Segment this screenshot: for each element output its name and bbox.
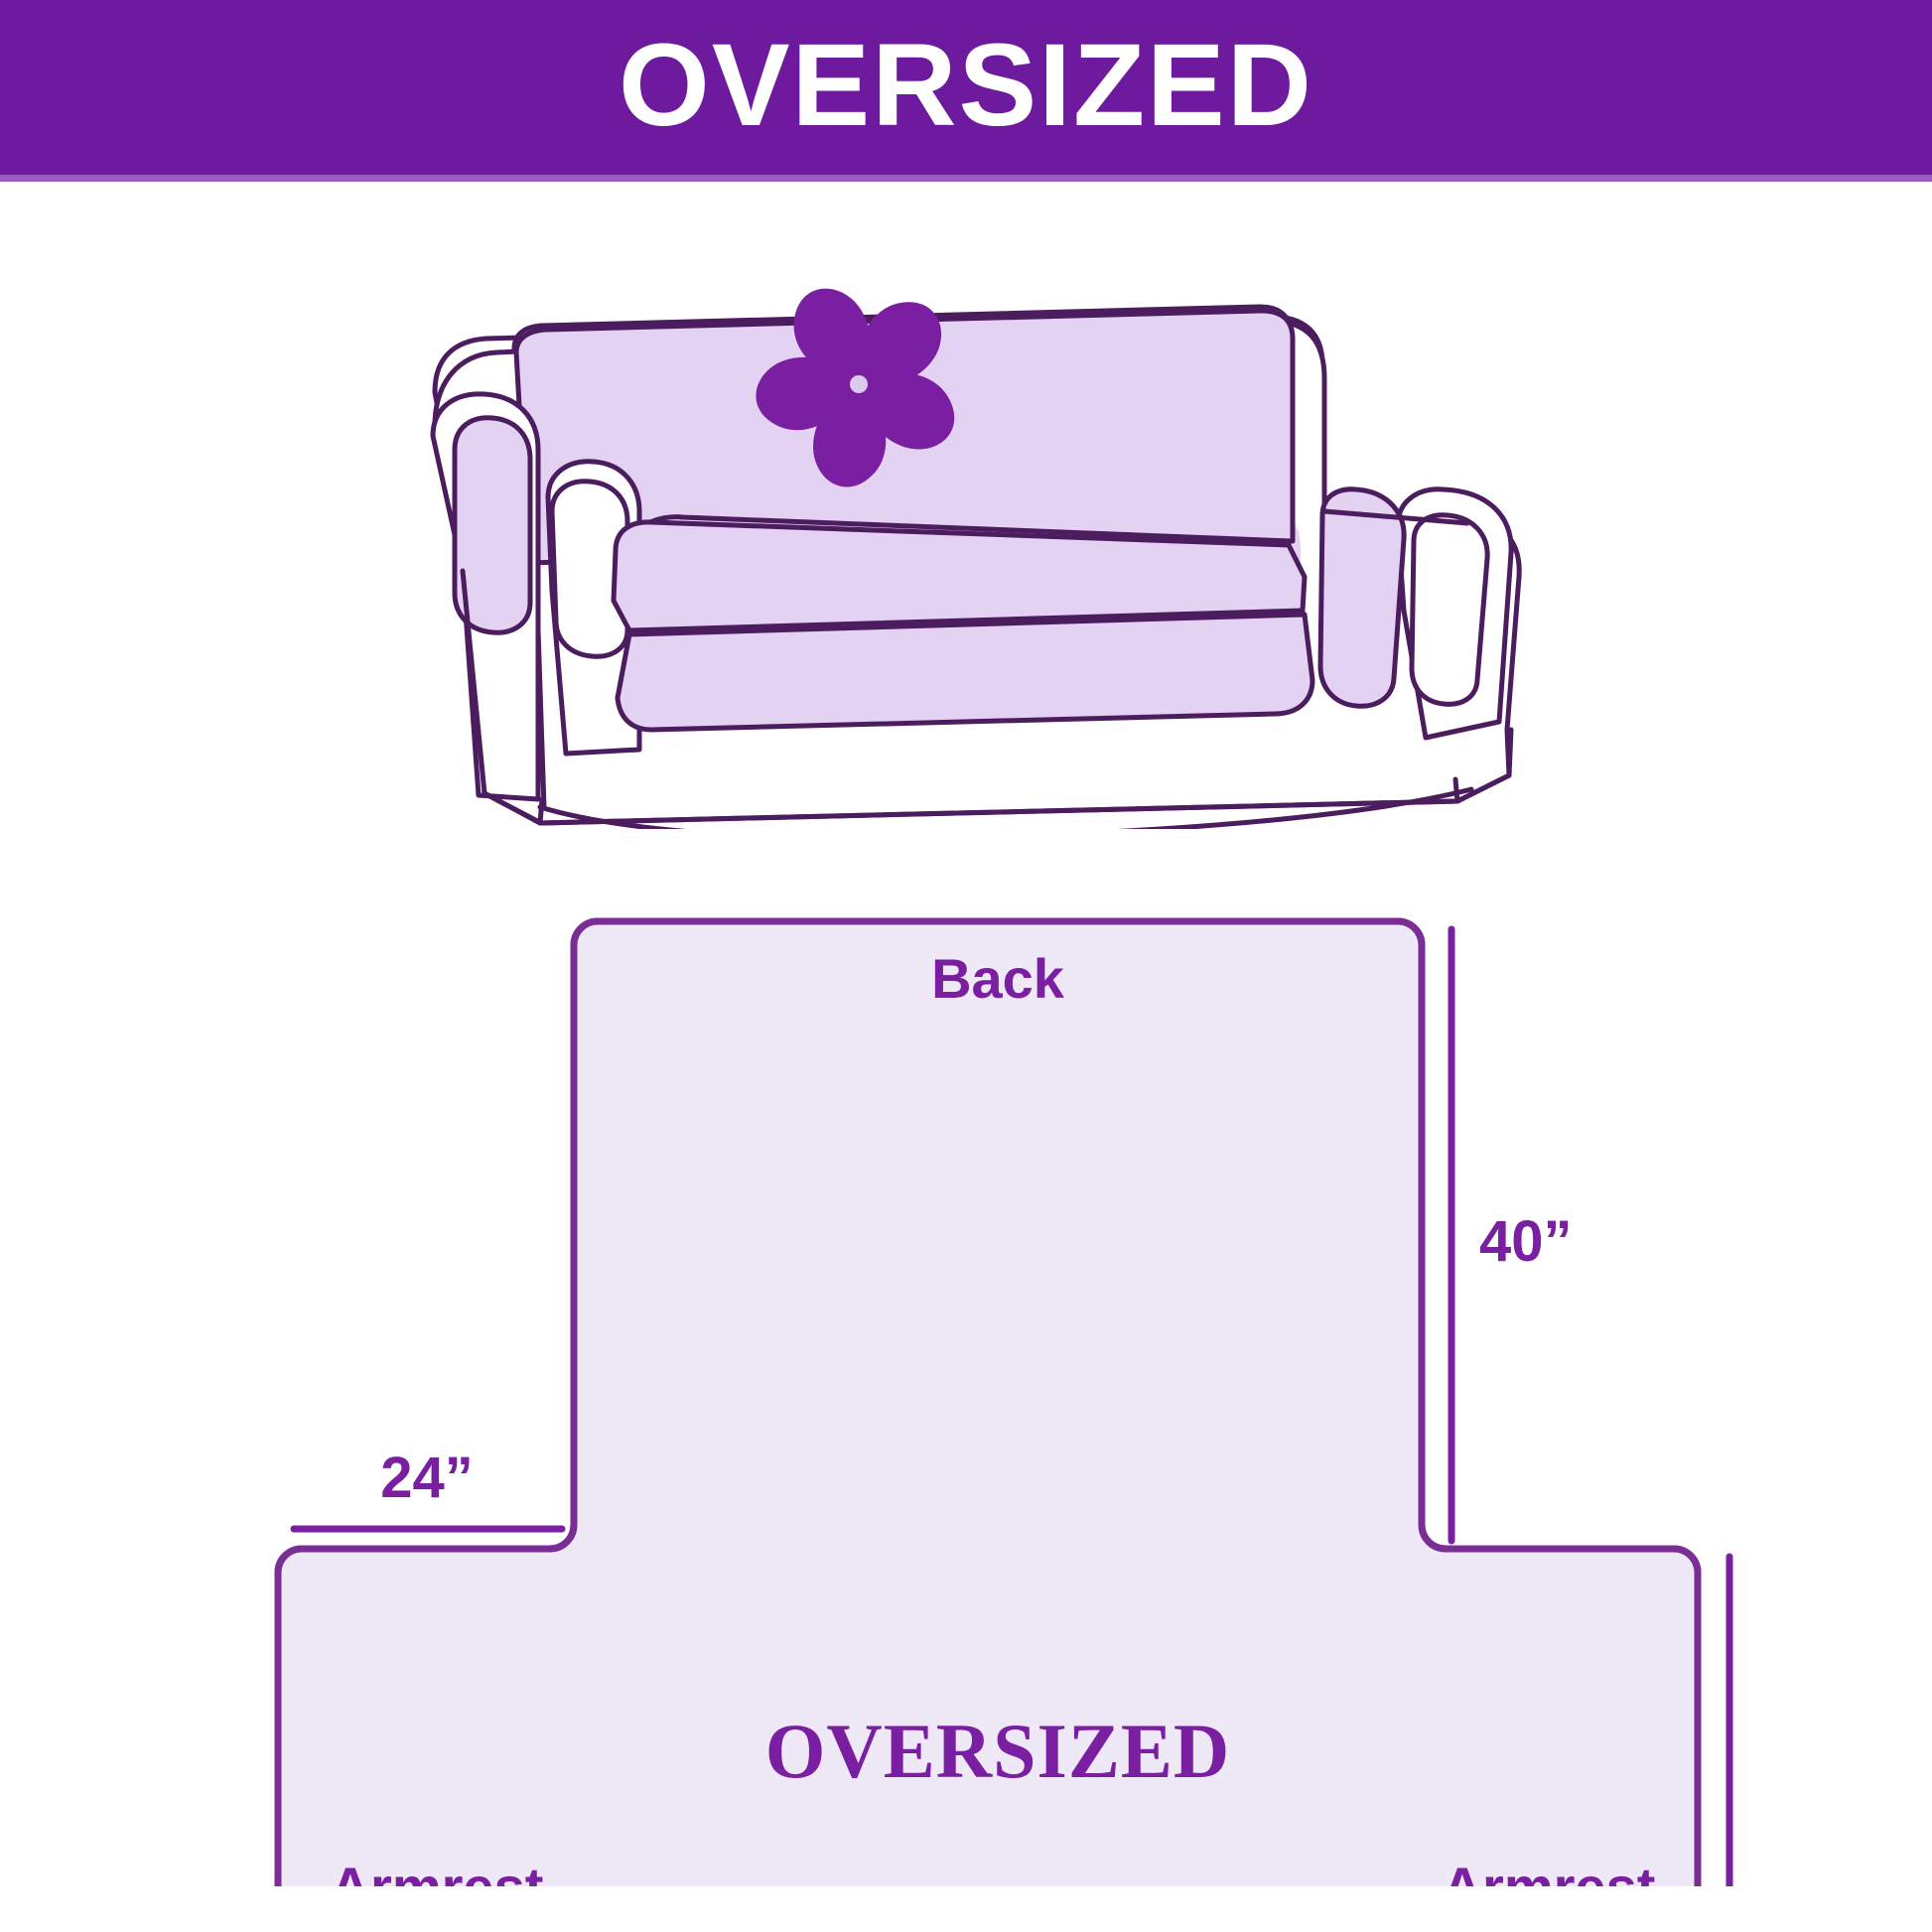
sofa-illustration	[367, 213, 1579, 829]
slipcover-diagram: Back 40” 24” OVERSIZED Armrest Armrest 2…	[248, 894, 1737, 1886]
label-back: Back	[931, 947, 1065, 1010]
header-banner: OVERSIZED	[0, 0, 1932, 175]
label-armrest-left: Armrest	[331, 1856, 544, 1886]
dimension-label-40: 40”	[1479, 1209, 1573, 1274]
label-oversized-center: OVERSIZED	[765, 1708, 1230, 1794]
dimension-label-24: 24”	[380, 1446, 474, 1510]
page-title: OVERSIZED	[619, 27, 1313, 144]
label-armrest-right: Armrest	[1443, 1856, 1656, 1886]
